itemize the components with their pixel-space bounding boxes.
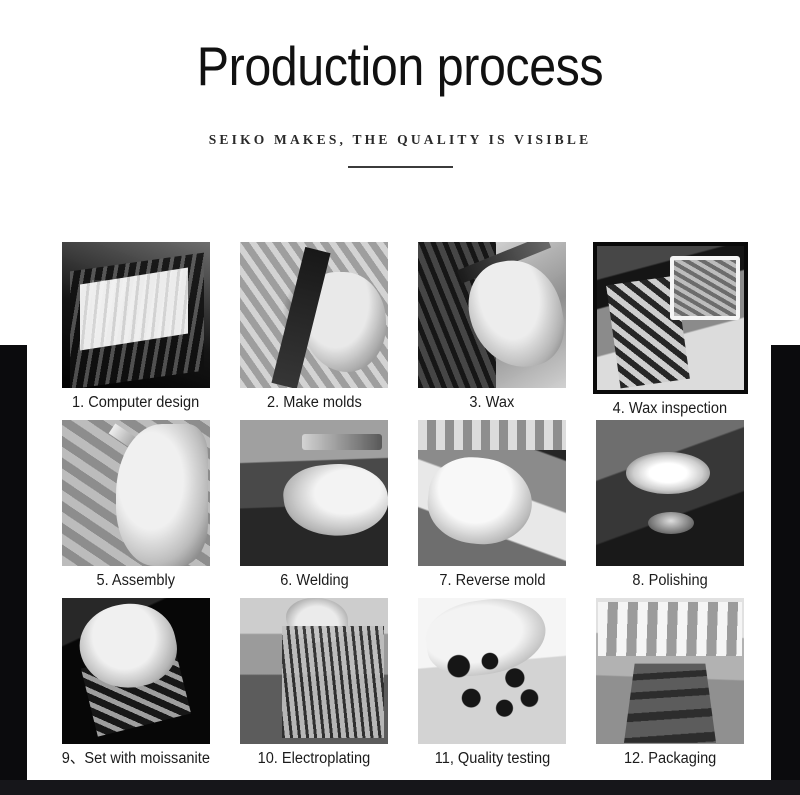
page-title: Production process <box>48 38 752 96</box>
process-step-11: 11, Quality testing <box>403 598 581 776</box>
process-step-8: 8. Polishing <box>581 420 759 598</box>
step-caption: 1. Computer design <box>72 391 199 414</box>
electroplating-photo <box>240 598 388 744</box>
step-caption: 9、Set with moissanite <box>62 747 210 770</box>
process-step-9: 9、Set with moissanite <box>47 598 225 776</box>
step-caption: 11, Quality testing <box>434 747 550 770</box>
quality-testing-photo <box>418 598 566 744</box>
wax-photo <box>418 242 566 388</box>
packaging-photo <box>596 598 744 744</box>
step-caption: 6. Welding <box>280 569 349 592</box>
bottom-accent-bar <box>0 780 800 795</box>
welding-photo <box>240 420 388 566</box>
wax-inspection-photo <box>593 242 748 394</box>
header: Production process SEIKO MAKES, THE QUAL… <box>0 0 800 168</box>
process-step-10: 10. Electroplating <box>225 598 403 776</box>
process-step-1: 1. Computer design <box>47 242 225 420</box>
step-caption: 2. Make molds <box>267 391 362 414</box>
right-accent-bar <box>771 345 800 792</box>
process-step-7: 7. Reverse mold <box>403 420 581 598</box>
process-step-6: 6. Welding <box>225 420 403 598</box>
step-caption: 8. Polishing <box>632 569 707 592</box>
step-caption: 3. Wax <box>470 391 515 414</box>
step-caption: 7. Reverse mold <box>439 569 545 592</box>
process-step-grid: 1. Computer design 2. Make molds 3. Wax … <box>47 242 759 776</box>
step-caption: 10. Electroplating <box>258 747 371 770</box>
step-caption: 5. Assembly <box>97 569 176 592</box>
page-subtitle: SEIKO MAKES, THE QUALITY IS VISIBLE <box>0 132 800 148</box>
step-caption: 12. Packaging <box>624 747 716 770</box>
production-process-infographic: Production process SEIKO MAKES, THE QUAL… <box>0 0 800 795</box>
polishing-photo <box>596 420 744 566</box>
make-molds-photo <box>240 242 388 388</box>
computer-design-photo <box>62 242 210 388</box>
step-caption: 4. Wax inspection <box>613 397 727 420</box>
divider-rule <box>348 166 453 168</box>
left-accent-bar <box>0 345 27 792</box>
process-step-2: 2. Make molds <box>225 242 403 420</box>
process-step-5: 5. Assembly <box>47 420 225 598</box>
set-with-moissanite-photo <box>62 598 210 744</box>
reverse-mold-photo <box>418 420 566 566</box>
process-step-4: 4. Wax inspection <box>581 242 759 420</box>
process-step-12: 12. Packaging <box>581 598 759 776</box>
process-step-3: 3. Wax <box>403 242 581 420</box>
assembly-photo <box>62 420 210 566</box>
